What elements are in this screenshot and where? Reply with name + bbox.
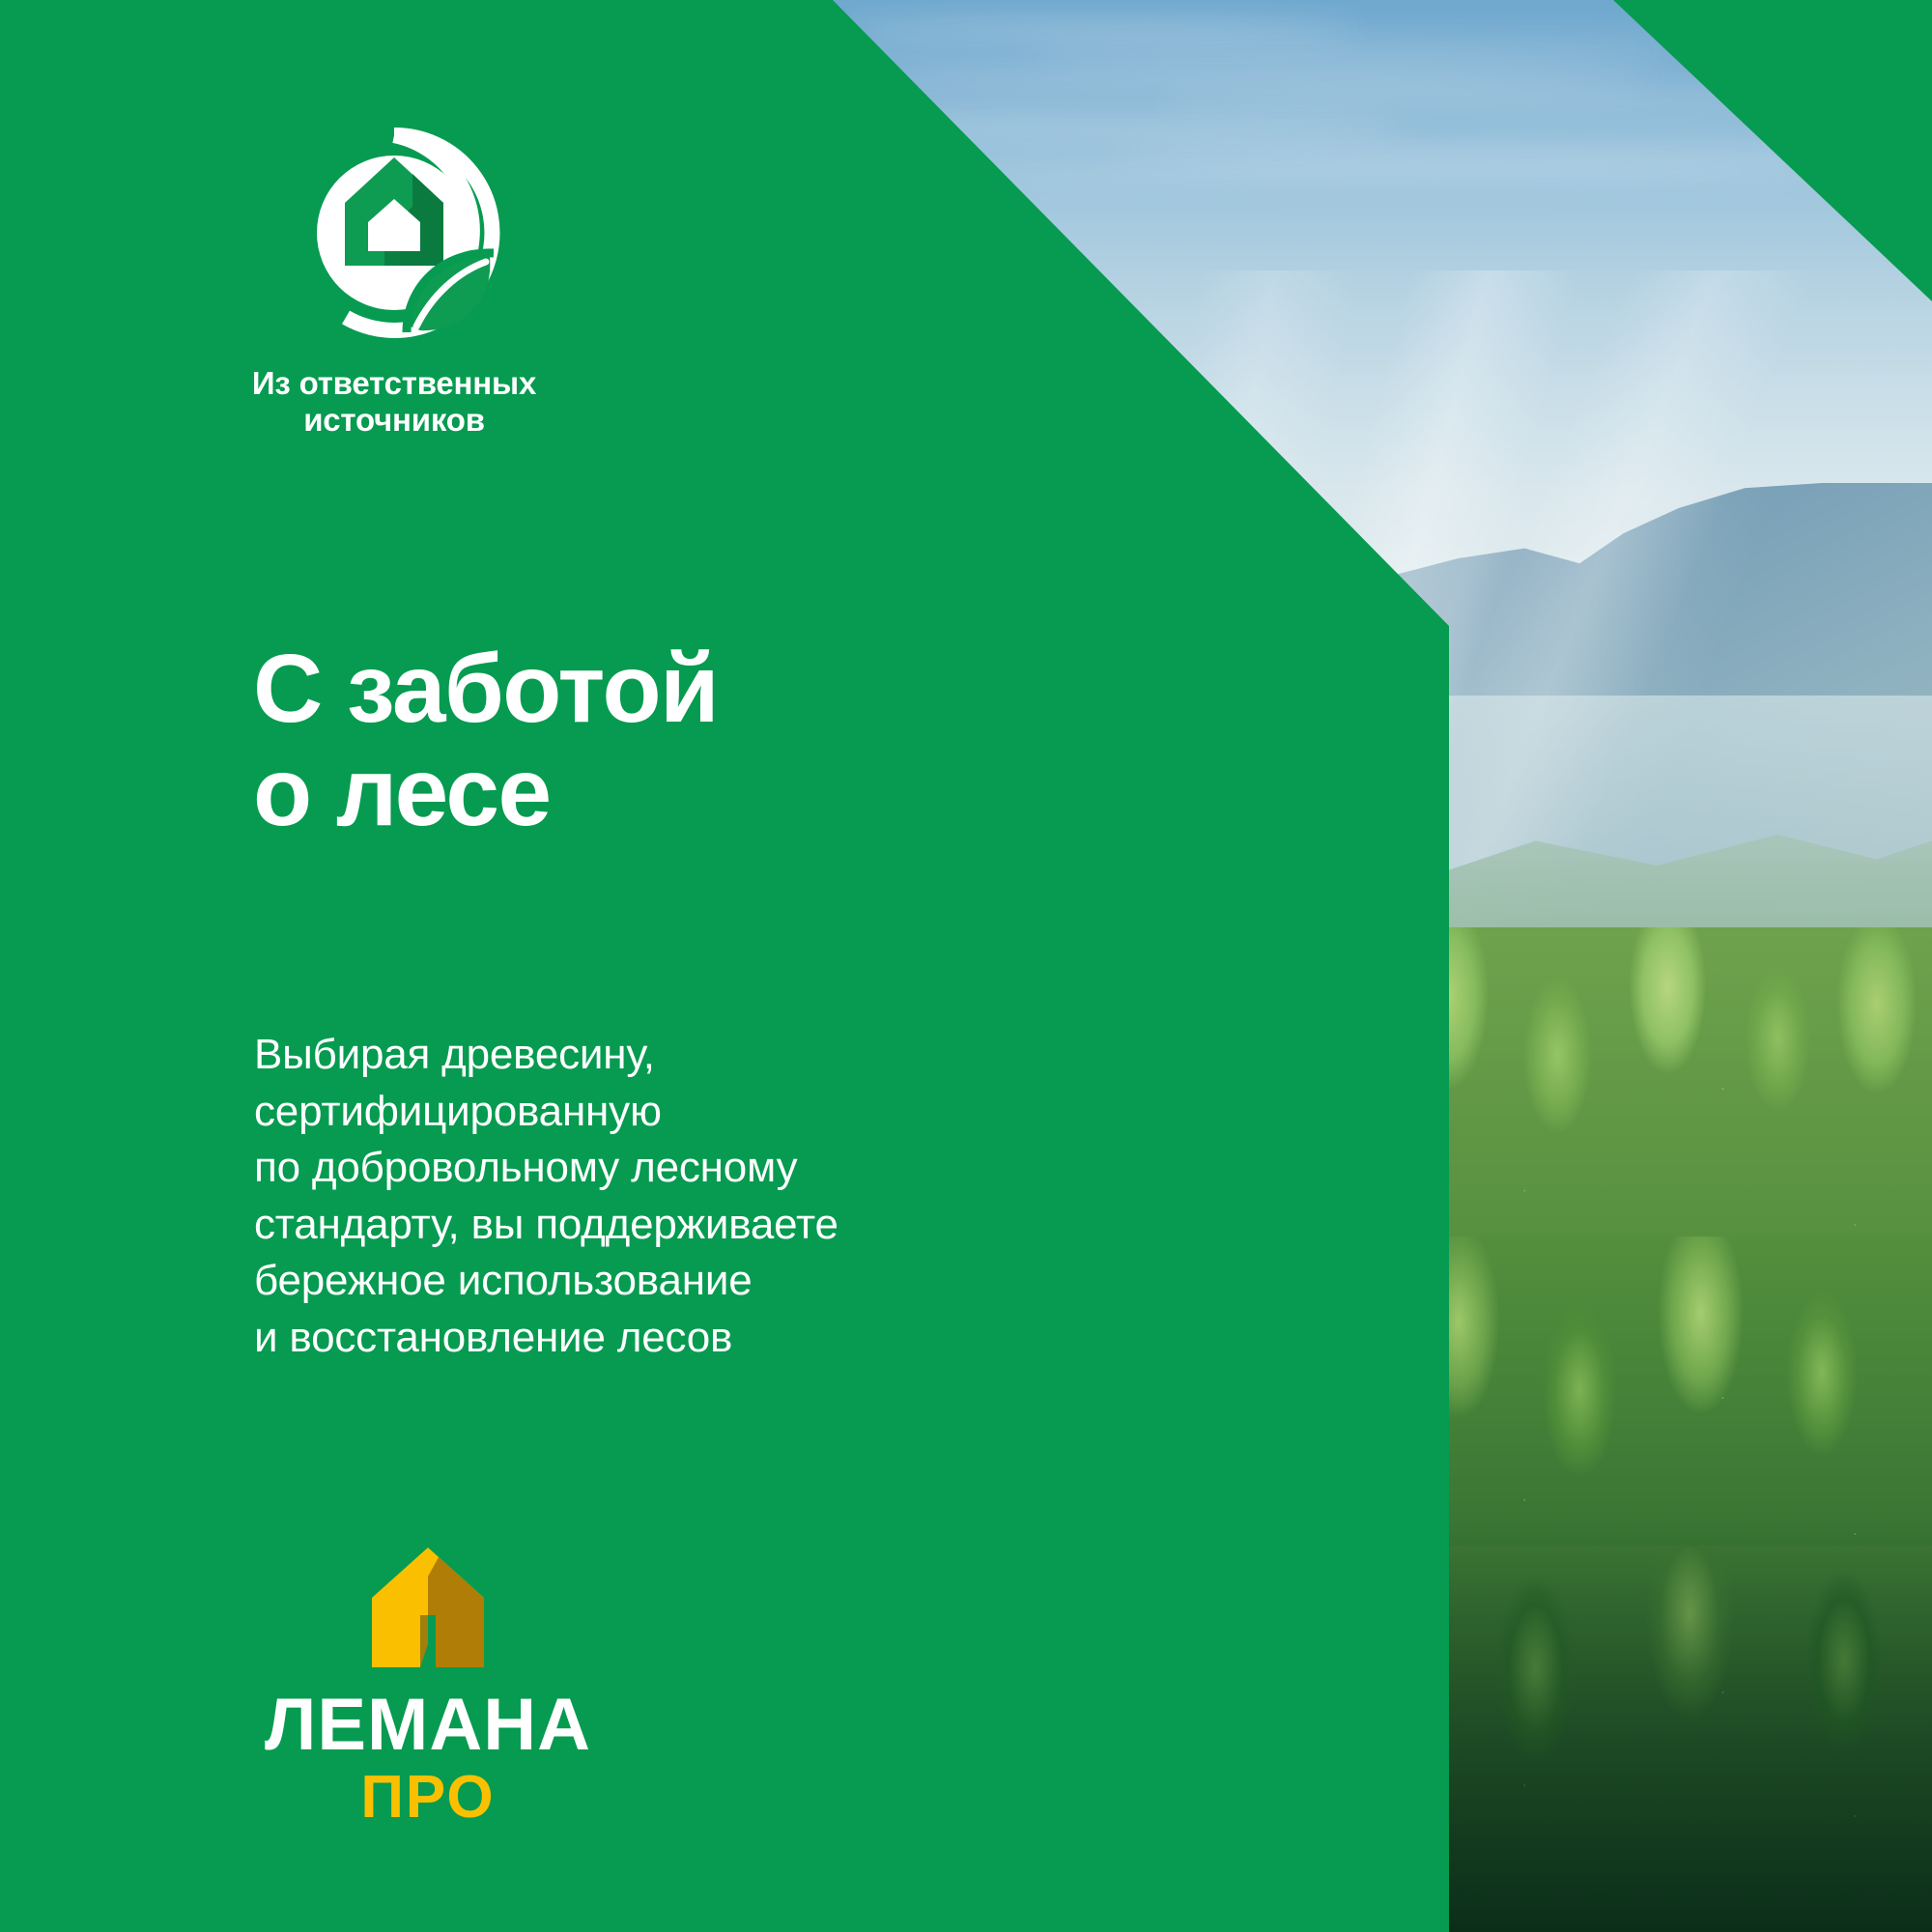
brand-sub: ПРО: [249, 1768, 607, 1828]
house-leaf-circle-icon: [287, 126, 501, 340]
content-area: Из ответственных источников С заботой о …: [0, 0, 1449, 1932]
certification-badge-label: Из ответственных источников: [249, 365, 539, 440]
brand-name: ЛЕМАНА: [249, 1689, 607, 1762]
page-title: С заботой о лесе: [253, 638, 718, 844]
poster: Из ответственных источников С заботой о …: [0, 0, 1932, 1932]
brand-logo: ЛЕМАНА ПРО: [249, 1544, 607, 1828]
body-copy: Выбирая древесину, сертифицированную по …: [254, 1027, 838, 1366]
lemana-house-icon: [368, 1544, 488, 1671]
certification-badge: Из ответственных источников: [249, 126, 539, 440]
